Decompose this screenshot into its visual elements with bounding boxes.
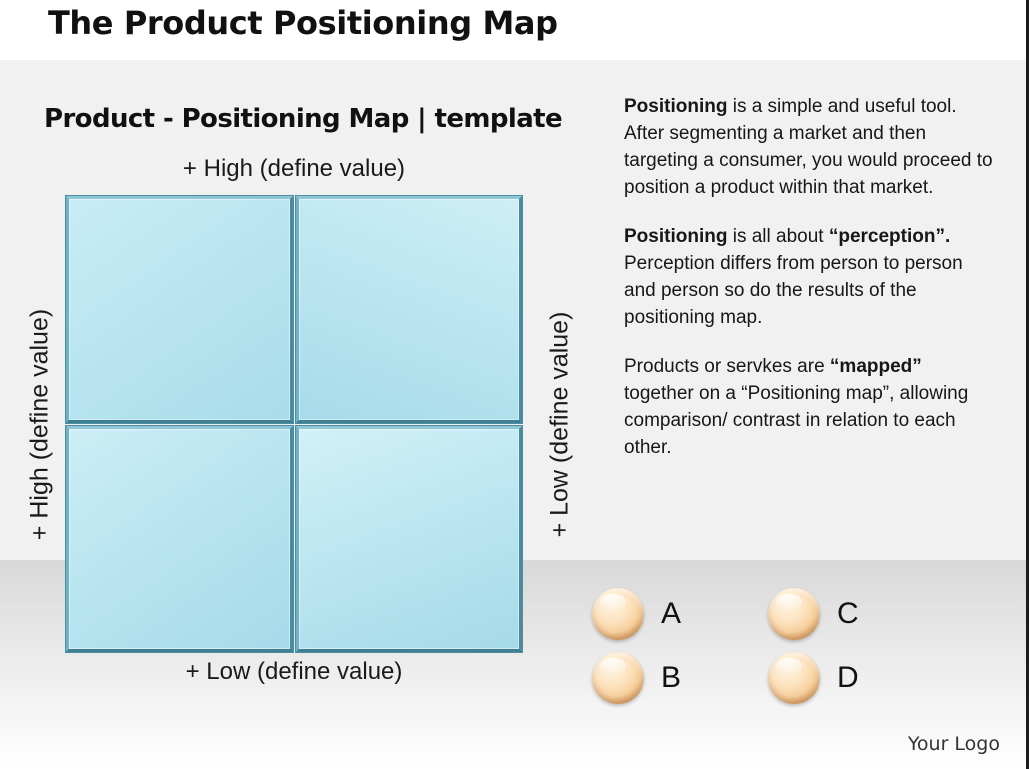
circle-bullet-icon xyxy=(592,588,644,640)
legend-item-d[interactable]: D xyxy=(768,652,859,704)
legend-item-c[interactable]: C xyxy=(768,588,859,640)
legend-label-b: B xyxy=(661,652,681,704)
emphasis-text: Positioning xyxy=(624,96,727,117)
footer-logo: Your Logo xyxy=(908,733,1000,755)
circle-bullet-icon xyxy=(592,652,644,704)
legend-label-a: A xyxy=(661,588,681,640)
legend-item-a[interactable]: A xyxy=(592,588,681,640)
axis-label-bottom: + Low (define value) xyxy=(66,658,522,686)
emphasis-text: “mapped” xyxy=(830,356,922,377)
axis-label-left: + High (define value) xyxy=(26,280,55,570)
title-band: The Product Positioning Map xyxy=(0,0,1029,60)
paragraph-1: Positioning is a simple and useful tool.… xyxy=(624,93,996,201)
slide-canvas: The Product Positioning Map Product - Po… xyxy=(0,0,1029,769)
quadrant-bottom-left[interactable] xyxy=(66,426,293,653)
axis-label-right: + Low (define value) xyxy=(546,280,575,570)
quadrant-top-left[interactable] xyxy=(66,196,293,423)
paragraph-2: Positioning is all about “perception”. P… xyxy=(624,223,996,331)
quadrant-bottom-right[interactable] xyxy=(296,426,523,653)
paragraph-3: Products or servkes are “mapped” togethe… xyxy=(624,353,996,461)
body-text: is all about xyxy=(727,226,828,247)
circle-bullet-icon xyxy=(768,652,820,704)
page-title: The Product Positioning Map xyxy=(48,4,558,42)
positioning-matrix xyxy=(66,196,522,652)
quadrant-top-right[interactable] xyxy=(296,196,523,423)
body-text: together on a “Positioning map”, allowin… xyxy=(624,383,968,458)
body-text: Perception differs from person to person… xyxy=(624,253,963,328)
emphasis-text: Positioning xyxy=(624,226,727,247)
legend-label-c: C xyxy=(837,588,859,640)
legend-item-b[interactable]: B xyxy=(592,652,681,704)
section-subtitle: Product - Positioning Map | template xyxy=(44,104,562,134)
body-text: Products or servkes are xyxy=(624,356,830,377)
axis-label-top: + High (define value) xyxy=(66,155,522,183)
circle-bullet-icon xyxy=(768,588,820,640)
description-text-panel: Positioning is a simple and useful tool.… xyxy=(624,93,996,483)
legend-label-d: D xyxy=(837,652,859,704)
emphasis-text: “perception”. xyxy=(829,226,950,247)
